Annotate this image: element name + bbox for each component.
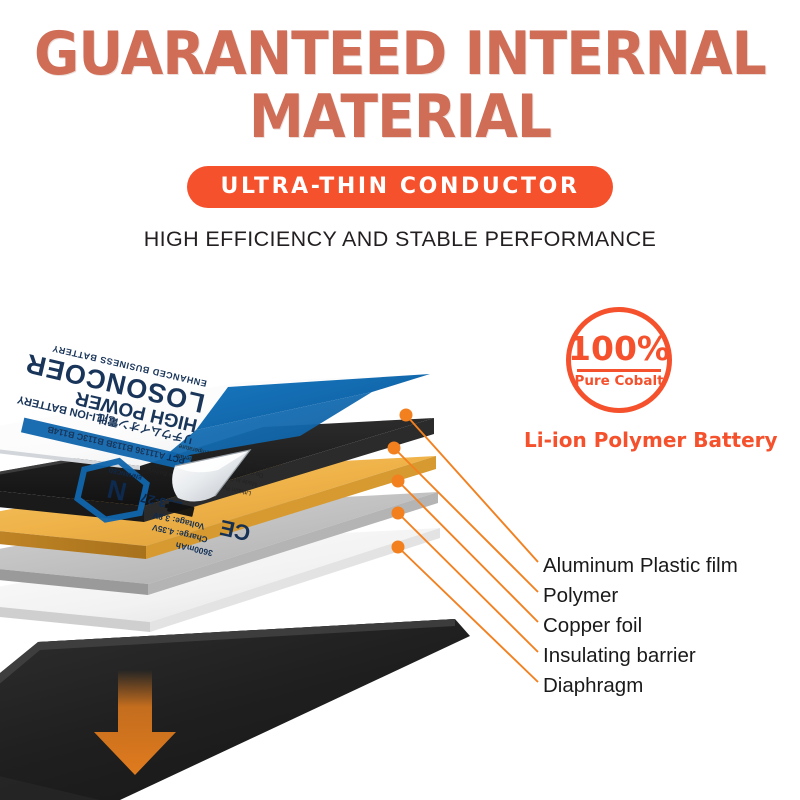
layer-label-list: Aluminum Plastic film Polymer Copper foi…	[543, 551, 738, 701]
leader-line-5	[398, 547, 538, 682]
badge-caption: Pure Cobalt	[574, 375, 663, 389]
badge-divider	[577, 369, 661, 372]
battery-type-caption: Li-ion Polymer Battery	[524, 428, 778, 452]
page-title-line-2: MATERIAL	[32, 89, 768, 146]
banner-row: ULTRA-THIN CONDUCTOR	[0, 166, 800, 208]
header: GUARANTEED INTERNAL MATERIAL ULTRA-THIN …	[0, 0, 800, 252]
infographic-page: GUARANTEED INTERNAL MATERIAL ULTRA-THIN …	[0, 0, 800, 800]
pure-cobalt-badge: 100% Pure Cobalt	[566, 307, 672, 413]
layer-label-diaphragm: Diaphragm	[543, 671, 738, 701]
leader-line-3	[398, 481, 538, 622]
layer-label-insulating-barrier: Insulating barrier	[543, 641, 738, 671]
page-title-line-1: GUARANTEED INTERNAL	[32, 26, 768, 83]
layer-label-aluminum-plastic-film: Aluminum Plastic film	[543, 551, 738, 581]
page-subtitle: HIGH EFFICIENCY AND STABLE PERFORMANCE	[0, 227, 800, 252]
ultra-thin-conductor-banner: ULTRA-THIN CONDUCTOR	[187, 166, 614, 208]
badge-percent: 100%	[568, 332, 670, 368]
leader-line-2	[394, 448, 538, 592]
leader-line-4	[398, 513, 538, 652]
layer-label-copper-foil: Copper foil	[543, 611, 738, 641]
layer-label-polymer: Polymer	[543, 581, 738, 611]
